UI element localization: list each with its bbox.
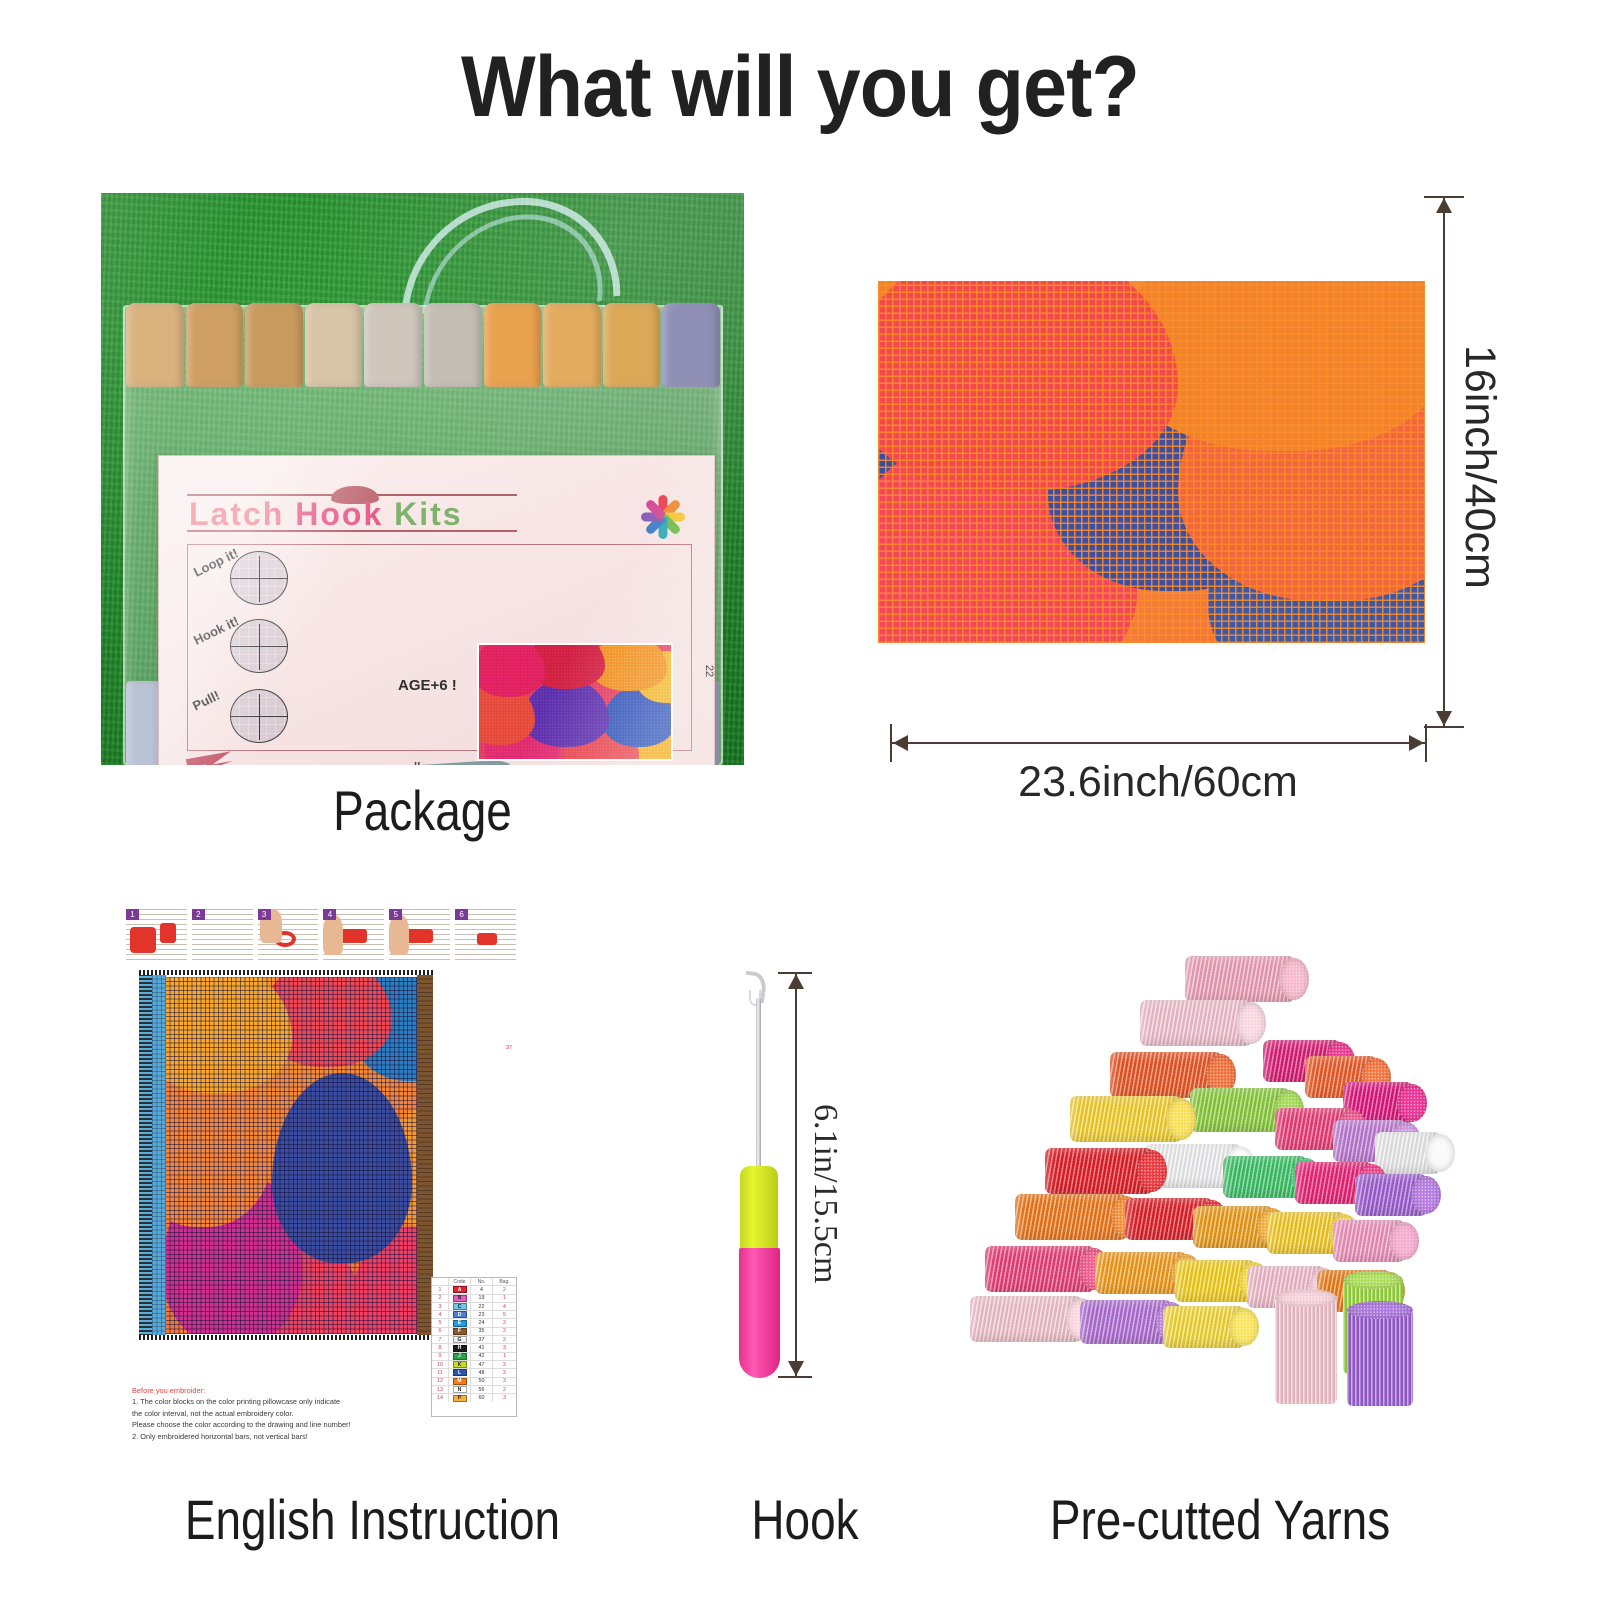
yarn-bundle-end [1229,1308,1259,1346]
step-thumbnail: 2 [192,909,253,964]
thumbnail-yarn [477,933,497,945]
row-bag-count: 3 [493,1394,516,1402]
yarn-bundle-end [1279,958,1309,1000]
finished-rug-preview [477,643,673,761]
hook-dim-cap-bottom [778,1376,812,1378]
yarn-bundle [305,303,363,387]
yarn-bundle [484,303,542,387]
row-number: 50 [471,1378,493,1385]
row-bag-count: 2 [493,1369,516,1376]
yarn-bundle [126,303,184,387]
bag-side-number: 22 [703,665,715,677]
row-index: 2 [432,1295,449,1302]
yarn-bundle [603,303,661,387]
package-label: Latch Hook Kits Loop it! Hook it! [158,455,715,765]
step-diagram-pull [230,689,288,743]
row-bag-count: 2 [493,1386,516,1393]
row-bag-count: 4 [493,1303,516,1310]
instruction-sheet: 123456 CodeNo.Bag.1A422B1913C2244D2355E2… [126,903,518,1475]
thumbnail-hand [323,915,343,955]
yarn-bundle-end [1137,1150,1167,1192]
row-index: 9 [432,1353,449,1360]
note-line-3: Please choose the color according to the… [132,1419,432,1430]
table-row: 13N562 [432,1386,516,1394]
yarn-bundle-top-end [1275,1289,1337,1307]
color-code-chip: P [453,1395,467,1402]
step-diagram-hook [230,619,288,673]
row-index: 1 [432,1286,449,1293]
table-row: 10K472 [432,1361,516,1369]
row-number: 23 [471,1311,493,1318]
row-number: 42 [471,1353,493,1360]
row-code: H [449,1344,471,1351]
chart-artwork [152,977,418,1334]
row-index: 8 [432,1344,449,1351]
package-photo: Latch Hook Kits Loop it! Hook it! [101,193,744,765]
color-code-chip: H [453,1345,467,1352]
table-row: 12M503 [432,1378,516,1386]
infographic-root: What will you get? Latch Hook Kits [0,0,1600,1600]
series-name: Handmade Series [243,761,473,765]
color-code-chip: L [453,1369,467,1376]
row-index: 4 [432,1311,449,1318]
table-row: 7G372 [432,1336,516,1344]
label-inner-frame: Loop it! Hook it! Pull! [187,544,692,751]
page-title: What will you get? [64,38,1536,137]
canvas-artwork [878,281,1425,643]
step-thumbnail: 3 [258,909,319,964]
table-header-cell [432,1278,449,1285]
row-bag-count: 3 [493,1378,516,1385]
row-code: M [449,1378,471,1385]
arrow-right-icon [1409,735,1424,751]
row-number: 56 [471,1386,493,1393]
canvas-heart-shape [878,281,1178,491]
yarn-bundles-top [125,303,721,387]
table-row: 9J421 [432,1353,516,1361]
row-code: E [449,1319,471,1326]
row-number: 60 [471,1394,493,1402]
needle-shaft [259,694,260,740]
yarn-bundle-end [1411,1176,1441,1214]
yarn-bundle-upright [1347,1308,1413,1406]
row-index: 13 [432,1386,449,1393]
yarn-bundle-end [1389,1222,1419,1260]
color-code-chip: F [453,1328,467,1335]
row-index: 12 [432,1378,449,1385]
row-bag-count: 2 [493,1319,516,1326]
brand-title: Latch Hook Kits [189,496,529,533]
table-row: 14P603 [432,1394,516,1402]
color-code-chip: B [453,1295,467,1302]
yarn-bundle [662,303,720,387]
printed-canvas-photo [878,281,1425,643]
pre-cut-yarns-photo [975,948,1445,1418]
row-number: 35 [471,1328,493,1335]
row-index: 10 [432,1361,449,1368]
chart-border-top [139,970,433,975]
yarn-bundle [364,303,422,387]
table-row: 3C224 [432,1303,516,1311]
arrow-left-icon [893,735,908,751]
yarn-bundle-top-end [1343,1271,1403,1289]
chart-heart-shape [272,1073,412,1263]
arrow-down-icon [1436,711,1452,726]
table-header-cell: Code [449,1278,471,1285]
dim-cap-right [1425,724,1427,762]
before-you-embroider-note: Before you embroider: 1. The color block… [132,1385,432,1442]
table-row: 11L482 [432,1369,516,1377]
color-code-chip: E [453,1320,467,1327]
thumbnail-step-number: 1 [126,909,139,920]
yarn-bundle-end [1397,1084,1427,1122]
color-code-chip: A [453,1286,467,1293]
needle-shaft [259,624,260,670]
table-header-cell: Bag. [493,1278,516,1285]
row-index: 11 [432,1369,449,1376]
table-row: 2B191 [432,1295,516,1303]
row-bag-count: 2 [493,1361,516,1368]
step-thumbnail: 1 [126,909,187,964]
row-code: D [449,1311,471,1318]
yarn-bundle [543,303,601,387]
color-code-chip: N [453,1386,467,1393]
yarn-bundle [245,303,303,387]
color-code-table: CodeNo.Bag.1A422B1913C2244D2355E2426F352… [431,1277,517,1417]
thumbnail-step-number: 4 [323,909,336,920]
row-code: J [449,1353,471,1360]
hook-arrow-down-icon [788,1361,804,1376]
row-index: 6 [432,1328,449,1335]
row-bag-count: 3 [493,1344,516,1351]
chart-border-left-blue [152,974,166,1336]
step-diagram-loop [230,551,288,605]
hook-length-label: 6.1in/15.5cm [806,1104,844,1283]
color-code-chip: K [453,1361,467,1368]
table-row: 4D235 [432,1311,516,1319]
canvas-height-label: 16inch/40cm [1455,345,1504,589]
color-chart-diagram [136,969,436,1354]
thumbnail-step-number: 6 [455,909,468,920]
thumbnail-step-number: 2 [192,909,205,920]
row-code: A [449,1286,471,1293]
note-line-1: 1. The color blocks on the color printin… [132,1396,432,1407]
latch-hook-tool [700,960,820,1390]
step-thumbnail: 5 [389,909,450,964]
color-code-chip: J [453,1353,467,1360]
hook-arrow-up-icon [788,974,804,989]
row-code: C [449,1303,471,1310]
thumbnail-step-number: 5 [389,909,402,920]
dimension-line-vertical [1443,196,1445,726]
label-footer: Handmade Series " CODE:DT2461 SIZE:60X40… [159,757,714,765]
plastic-bag: Latch Hook Kits Loop it! Hook it! [123,305,723,765]
step-label-pull: Pull! [190,688,222,714]
color-code-chip: G [453,1336,467,1343]
row-number: 47 [471,1361,493,1368]
note-line-4: 2. Only embroidered horizontal bars, not… [132,1431,432,1442]
row-number: 19 [471,1295,493,1302]
arrow-up-icon [1436,198,1452,213]
row-code: L [449,1369,471,1376]
row-index: 7 [432,1336,449,1343]
table-row: 1A42 [432,1286,516,1294]
table-header-cell: No. [471,1278,493,1285]
row-number: 41 [471,1344,493,1351]
note-line-2: the color interval, not the actual embro… [132,1408,432,1419]
yarn-bundle-end [1425,1134,1455,1172]
hook-handle-upper [740,1166,778,1250]
caption-package: Package [159,778,686,843]
handmade-logo-icon [181,753,239,765]
row-number: 24 [471,1319,493,1326]
table-row: 6F352 [432,1328,516,1336]
thumbnail-hand [389,915,409,955]
brand-word-latch: Latch [189,496,284,532]
caption-hook: Hook [686,1487,924,1552]
canvas-width-label: 23.6inch/60cm [878,758,1438,807]
brand-word-hook: Hook [295,496,383,532]
brand-word-kits: Kits [394,496,462,532]
row-bag-count: 2 [493,1328,516,1335]
quote-mark: " [414,759,420,765]
thumbnail-yarn [160,923,176,943]
row-code: N [449,1386,471,1393]
row-code: F [449,1328,471,1335]
pinwheel-logo-icon [634,488,692,546]
step-thumbnails: 123456 [126,909,516,964]
thumbnail-yarn [130,927,156,953]
chart-heart-shape [152,977,292,1093]
color-code-chip: D [453,1311,467,1318]
caption-english-instruction: English Instruction [149,1487,596,1552]
color-code-total: 37 [506,1045,512,1051]
row-number: 22 [471,1303,493,1310]
row-index: 14 [432,1394,449,1402]
row-number: 37 [471,1336,493,1343]
row-bag-count: 1 [493,1353,516,1360]
color-code-chip: C [453,1303,467,1310]
chart-border-bottom [139,1335,433,1340]
yarn-bundle [424,303,482,387]
age-recommendation: AGE+6 ! [398,677,457,694]
hook-handle-lower [739,1248,780,1378]
row-code: B [449,1295,471,1302]
hook-metal-shaft [756,998,761,1178]
thumbnail-step-number: 3 [258,909,271,920]
row-index: 5 [432,1319,449,1326]
step-thumbnail: 6 [455,909,516,964]
table-row: 5E242 [432,1319,516,1327]
row-code: P [449,1394,471,1402]
row-bag-count: 1 [493,1295,516,1302]
table-row: 8H413 [432,1344,516,1352]
step-thumbnail: 4 [323,909,384,964]
table-header-row: CodeNo.Bag. [432,1278,516,1286]
caption-yarns: Pre-cutted Yarns [1003,1487,1438,1552]
row-number: 4 [471,1286,493,1293]
row-index: 3 [432,1303,449,1310]
row-number: 48 [471,1369,493,1376]
row-bag-count: 2 [493,1336,516,1343]
yarn-bundle-end [1166,1098,1196,1140]
yarn-bundle-end [1236,1002,1266,1044]
yarn-bundle-upright [1275,1296,1337,1404]
dim-cap-bottom [1424,726,1464,728]
row-bag-count: 2 [493,1286,516,1293]
needle-shaft [259,556,260,602]
yarn-bundle-top-end [1347,1301,1413,1319]
note-heading: Before you embroider: [132,1385,432,1396]
color-code-chip: M [453,1378,467,1385]
yarn-grain-texture [479,645,671,759]
yarn-bundle [186,303,244,387]
row-bag-count: 5 [493,1311,516,1318]
chart-border-left [139,974,152,1336]
row-code: K [449,1361,471,1368]
row-code: G [449,1336,471,1343]
hook-dimension-line [795,972,797,1376]
dimension-line-horizontal [890,742,1426,744]
